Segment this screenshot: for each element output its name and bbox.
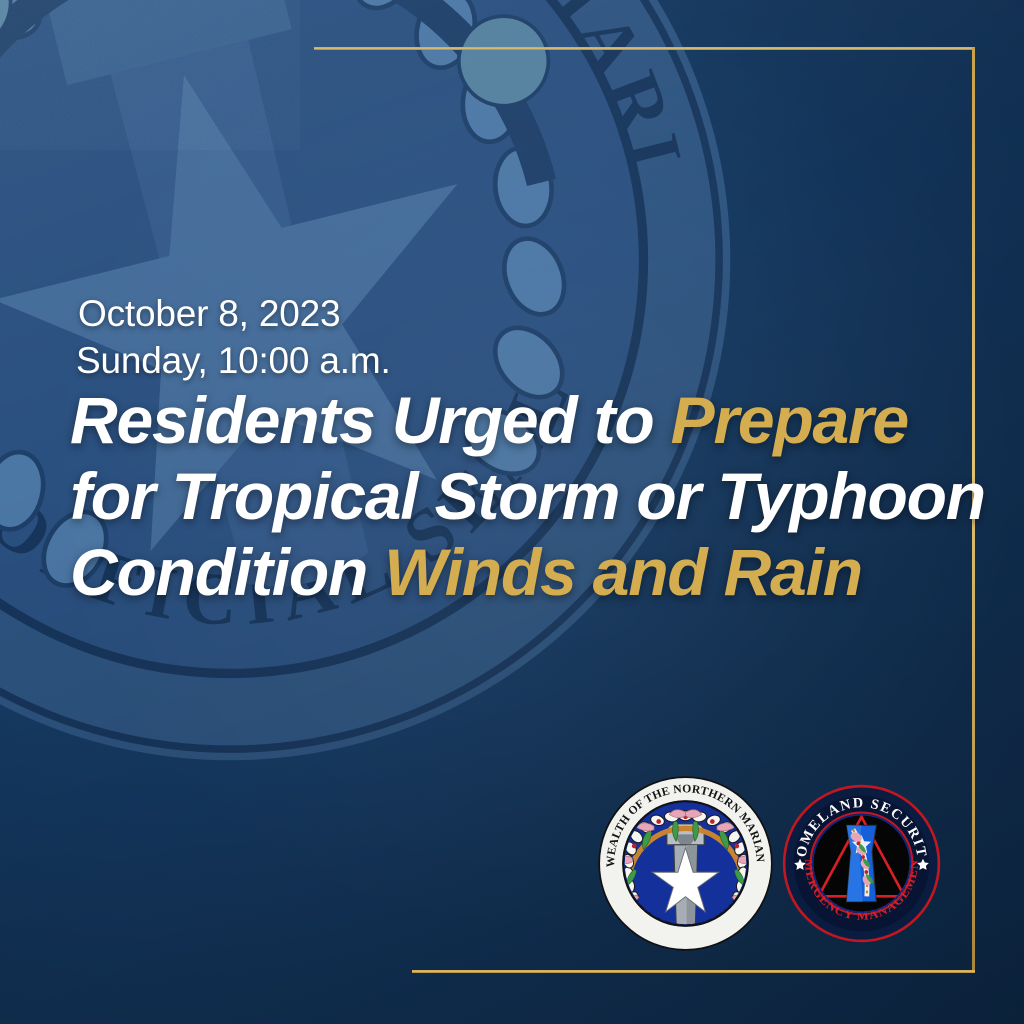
page-title: Residents Urged to Prepare for Tropical …: [70, 382, 970, 610]
advisory-date: October 8, 2023: [78, 293, 340, 334]
background-texture: [0, 0, 300, 150]
headline-line-1: Residents Urged to Prepare: [70, 382, 970, 458]
headline-line-2: for Tropical Storm or Typhoon: [70, 458, 970, 534]
headline-line-3-white: Condition: [70, 535, 384, 609]
headline-line-1-white: Residents Urged to: [70, 383, 671, 457]
advisory-time: Sunday, 10:00 a.m.: [76, 337, 391, 384]
headline-line-3-gold: Winds and Rain: [384, 535, 862, 609]
homeland-security-emergency-management-seal-icon: HOMELAND SECURITY EMERGENCY MANAGEMENT: [782, 784, 941, 943]
agency-seals: COMMONWEALTH OF THE NORTHERN MARIANA ISL…: [598, 776, 941, 951]
emergency-advisory-poster: COMMONWEALTH OF THE NORTHERN MARIANA ISL…: [0, 0, 1024, 1024]
cnmi-seal-wrap: COMMONWEALTH OF THE NORTHERN MARIANA ISL…: [598, 776, 773, 951]
cnmi-official-seal-icon: COMMONWEALTH OF THE NORTHERN MARIANA ISL…: [598, 776, 773, 951]
headline-line-3: Condition Winds and Rain: [70, 534, 970, 610]
hsem-seal-wrap: HOMELAND SECURITY EMERGENCY MANAGEMENT: [782, 784, 941, 943]
headline-line-2-white: for Tropical Storm or Typhoon: [70, 459, 985, 533]
headline-line-1-gold: Prepare: [671, 383, 908, 457]
